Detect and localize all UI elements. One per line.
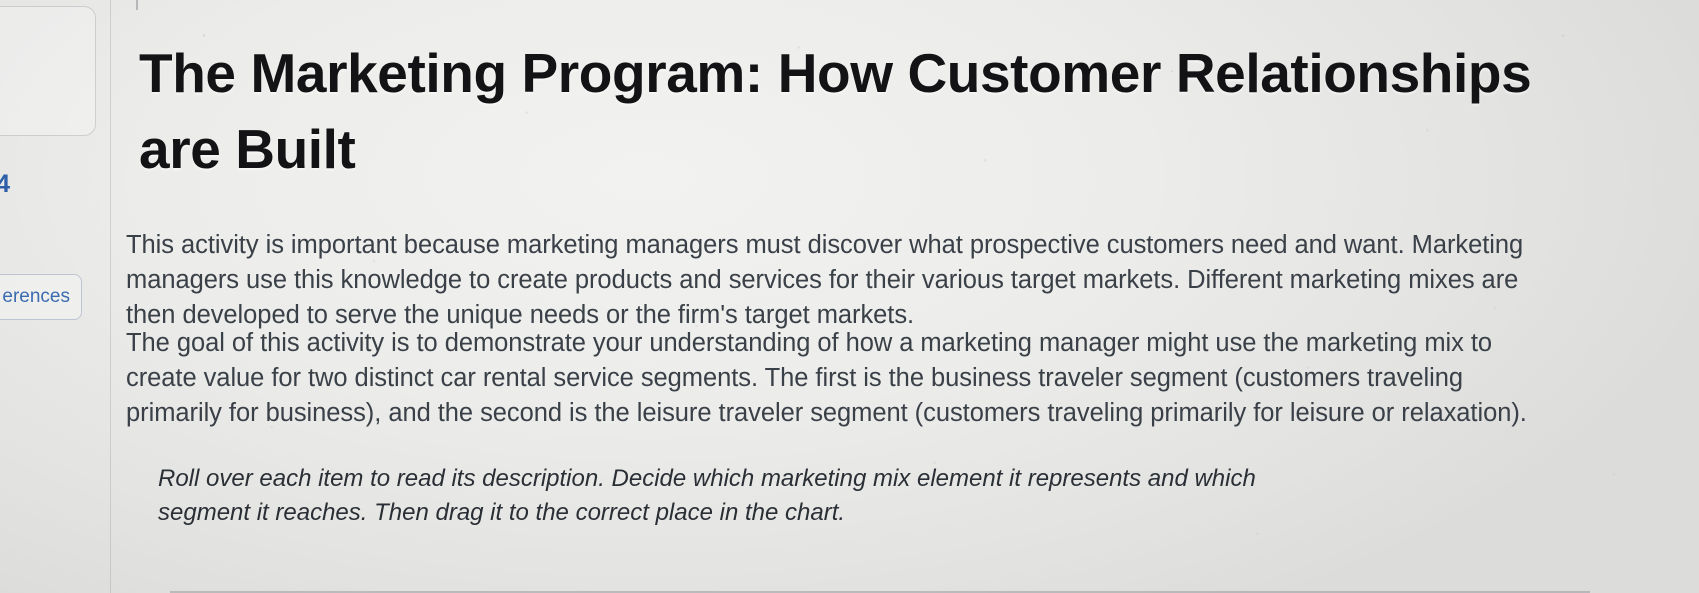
page-count-value: 34	[0, 171, 10, 198]
activity-content: The Marketing Program: How Customer Rela…	[0, 0, 1699, 593]
scroll-indicator-nub	[136, 0, 138, 10]
sidebar-divider	[110, 0, 111, 593]
left-sidebar-rail: 3 34 ts erences	[0, 0, 112, 593]
goal-paragraph: The goal of this activity is to demonstr…	[126, 326, 1546, 431]
chapter-badge[interactable]: 3	[0, 6, 96, 136]
page-title: The Marketing Program: How Customer Rela…	[139, 36, 1539, 188]
references-button[interactable]: erences	[0, 274, 82, 320]
instruction-paragraph: Roll over each item to read its descript…	[158, 462, 1278, 530]
references-button-label: erences	[2, 286, 70, 308]
intro-paragraph: This activity is important because marke…	[126, 228, 1546, 333]
